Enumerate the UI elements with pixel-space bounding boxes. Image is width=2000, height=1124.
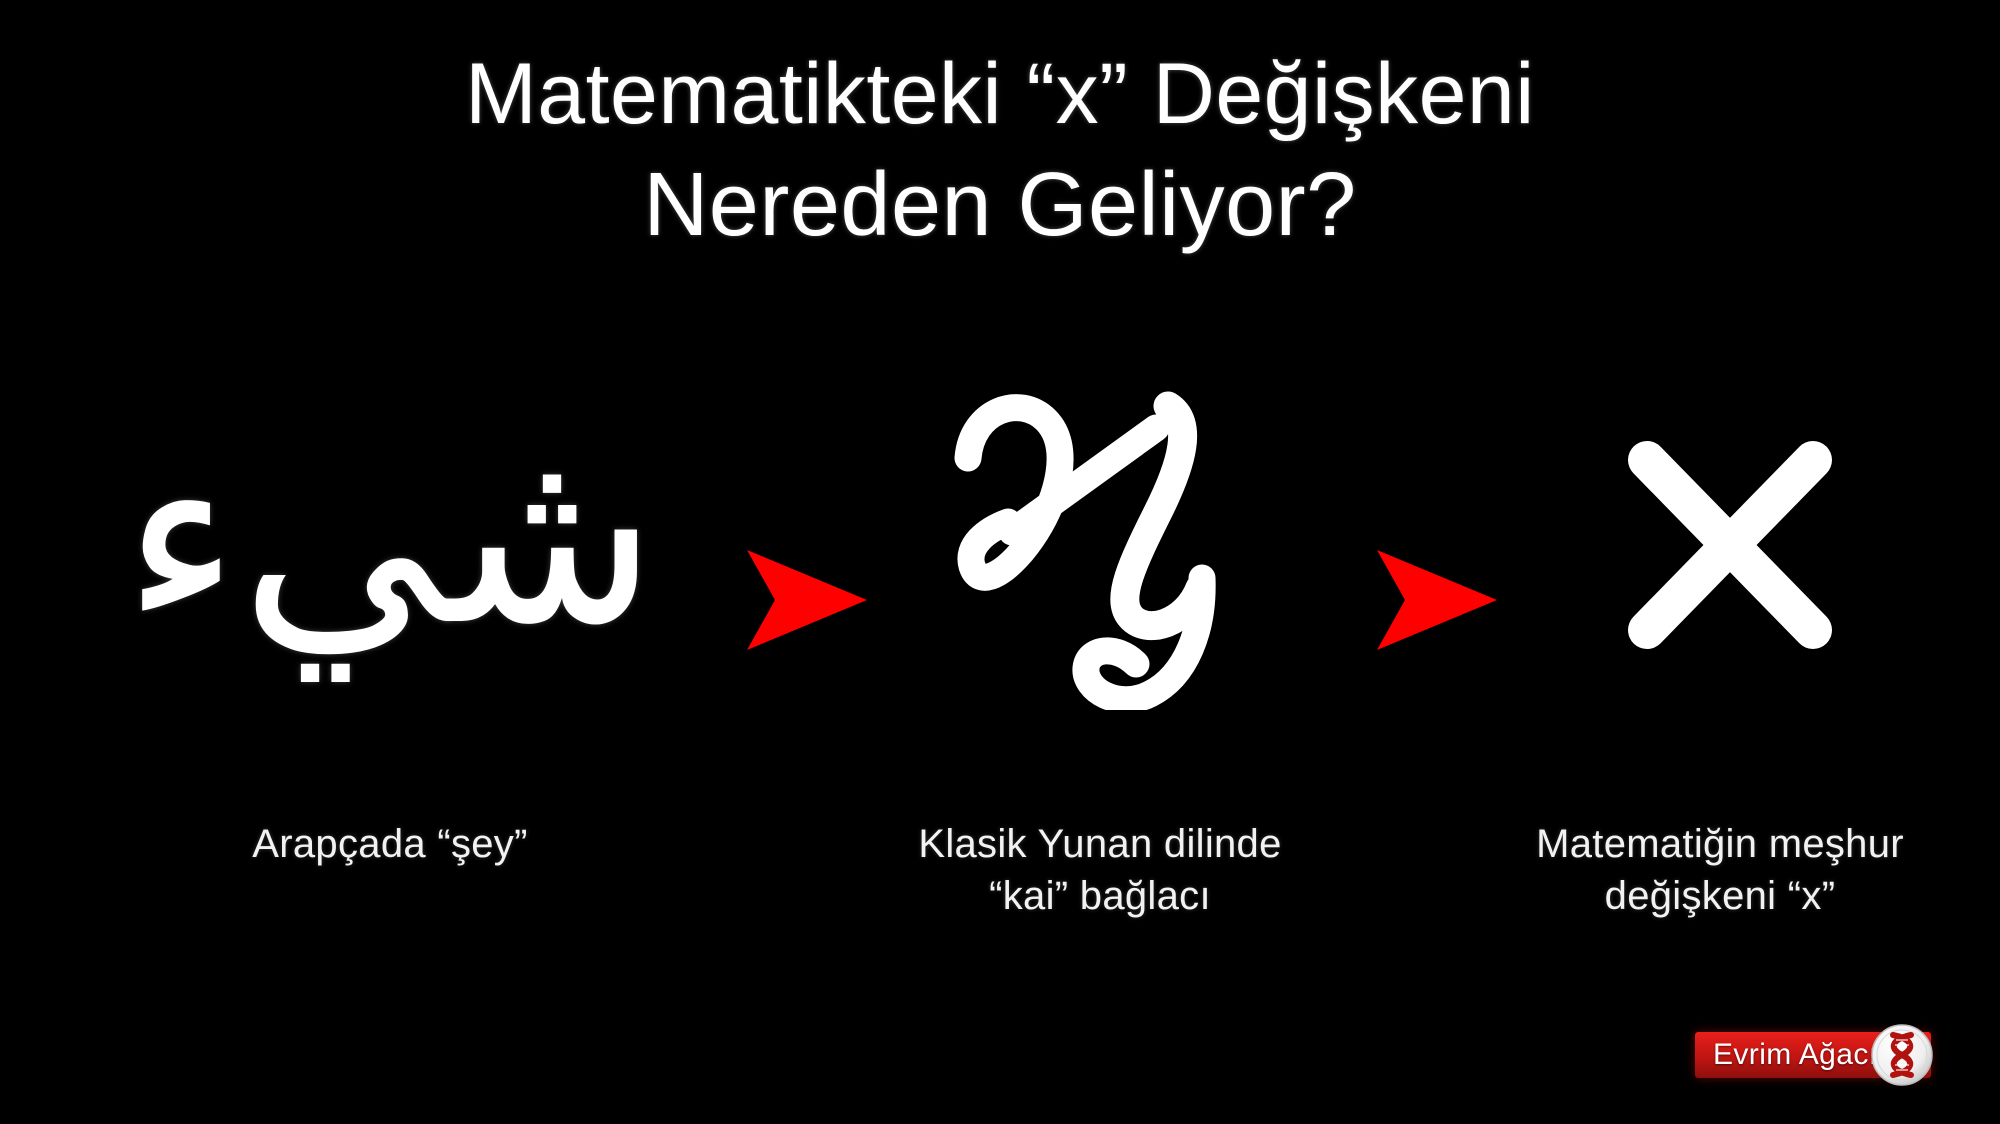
stage-arabic: شيء bbox=[40, 380, 740, 710]
caption-latin-line-1: Matematiğin meşhur bbox=[1480, 818, 1960, 870]
page-title: Matematikteki “x” Değişkeni Nereden Geli… bbox=[0, 48, 2000, 254]
stage-greek bbox=[880, 380, 1320, 710]
caption-latin-line-2: değişkeni “x” bbox=[1480, 870, 1960, 922]
evolution-sequence: شيء bbox=[0, 380, 2000, 780]
arrow-right-icon-2 bbox=[1365, 540, 1505, 660]
infographic-canvas: Matematikteki “x” Değişkeni Nereden Geli… bbox=[0, 0, 2000, 1124]
brand-logo[interactable]: Evrim Ağacı bbox=[1695, 1028, 1931, 1082]
title-line-1: Matematikteki “x” Değişkeni bbox=[0, 48, 2000, 141]
dna-helix-icon bbox=[1869, 1022, 1935, 1088]
arabic-word-shay: شيء bbox=[122, 410, 657, 660]
caption-arabic: Arapçada “şey” bbox=[80, 818, 700, 870]
caption-latin: Matematiğin meşhur değişkeni “x” bbox=[1480, 818, 1960, 922]
greek-kai-ligature-icon bbox=[950, 380, 1250, 710]
caption-greek: Klasik Yunan dilinde “kai” bağlacı bbox=[840, 818, 1360, 922]
caption-greek-line-1: Klasik Yunan dilinde bbox=[840, 818, 1360, 870]
latin-letter-x-icon bbox=[1615, 430, 1845, 660]
brand-logo-text: Evrim Ağacı bbox=[1713, 1038, 1877, 1072]
arrow-right-icon-1 bbox=[735, 540, 875, 660]
caption-greek-line-2: “kai” bağlacı bbox=[840, 870, 1360, 922]
title-line-2: Nereden Geliyor? bbox=[0, 157, 2000, 254]
caption-arabic-line-1: Arapçada “şey” bbox=[80, 818, 700, 870]
stage-latin bbox=[1520, 380, 1940, 710]
